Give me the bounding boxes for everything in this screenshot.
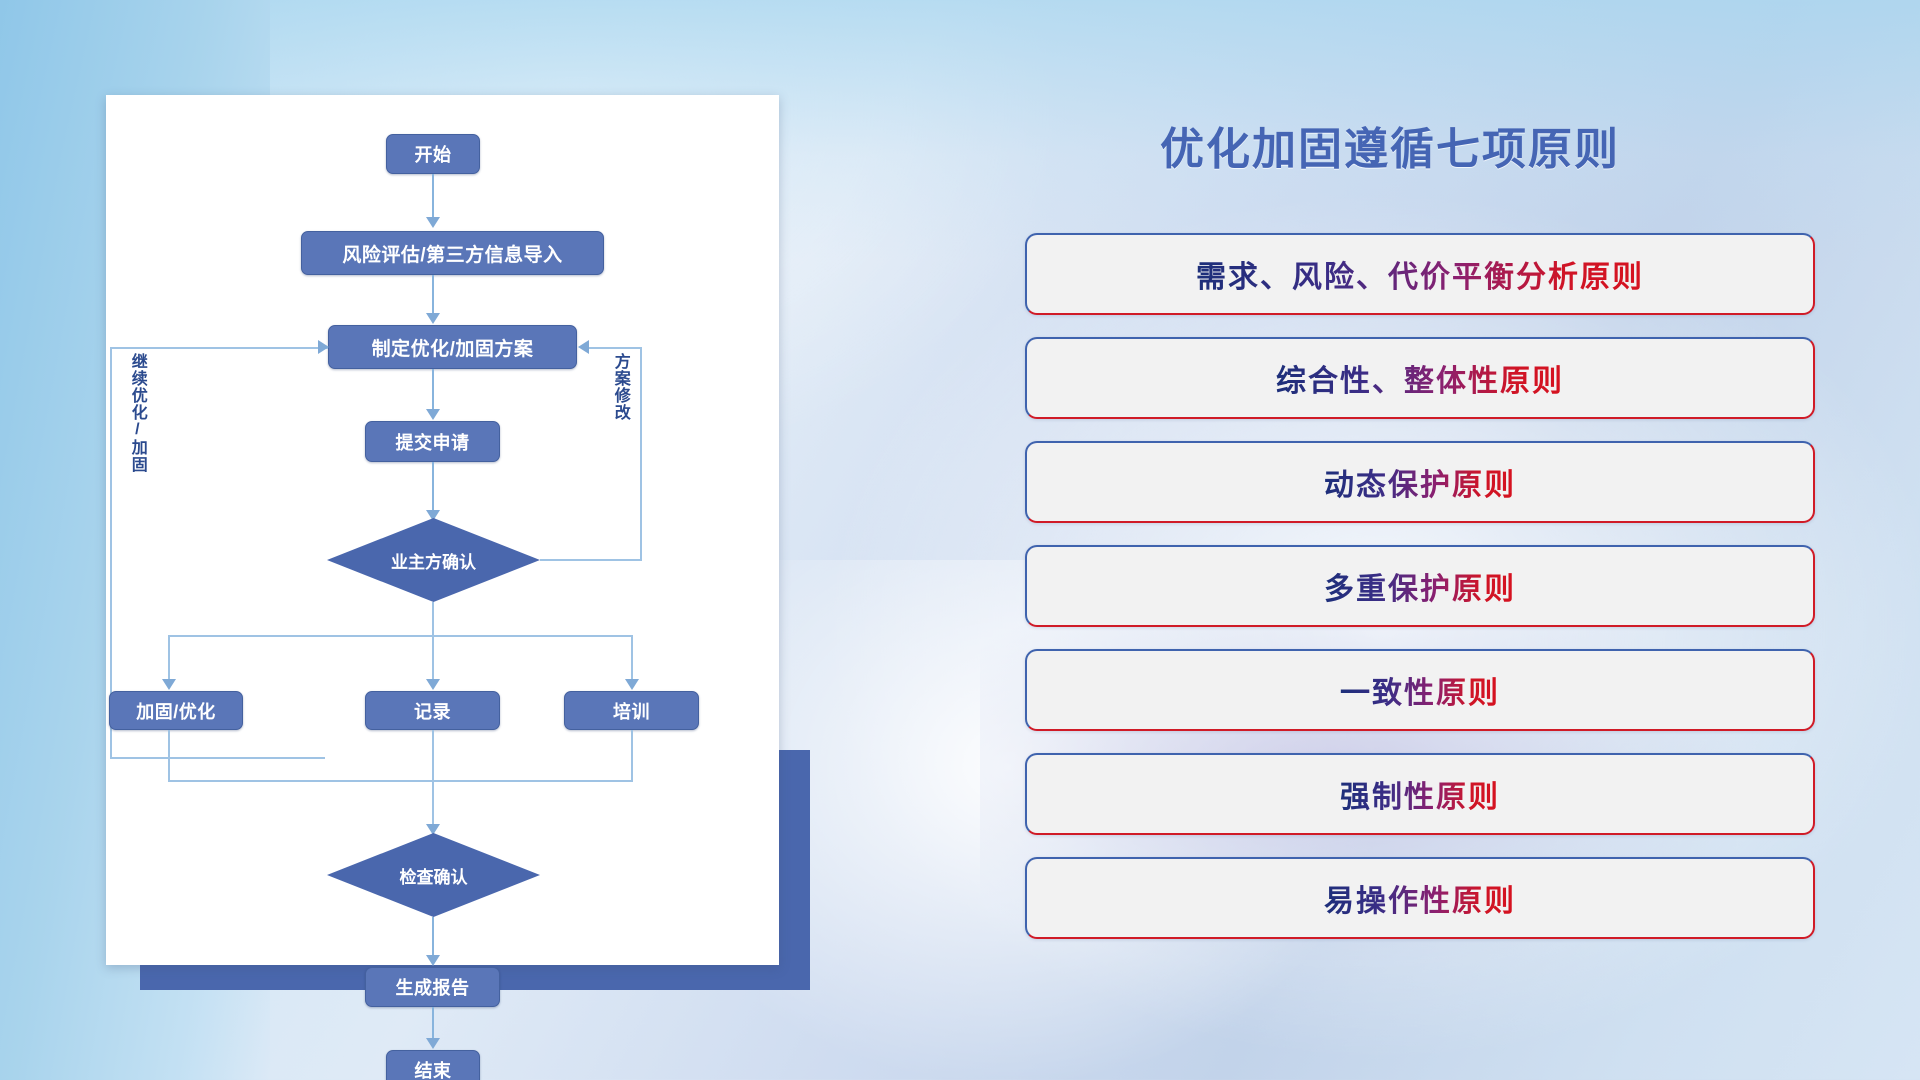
principle-label: 多重保护原则 <box>1324 564 1516 608</box>
edge-owner-down <box>432 602 434 684</box>
edge-train-down <box>631 730 633 782</box>
flow-node-risk-assessment-label: 风险评估/第三方信息导入 <box>342 240 562 267</box>
flow-node-record[interactable]: 记录 <box>365 691 500 730</box>
flow-node-report-label: 生成报告 <box>396 974 470 1000</box>
flow-node-start-label: 开始 <box>415 141 452 167</box>
flow-node-risk-assessment[interactable]: 风险评估/第三方信息导入 <box>301 231 604 275</box>
principle-label: 一致性原则 <box>1340 668 1500 712</box>
list-item[interactable]: 动态保护原则 <box>1025 441 1815 523</box>
edge-reinforce-down <box>168 730 170 782</box>
flow-node-train-label: 培训 <box>613 698 650 724</box>
arrow-plan-to-submit-icon <box>426 409 440 420</box>
list-item[interactable]: 多重保护原则 <box>1025 545 1815 627</box>
principles-list: 需求、风险、代价平衡分析原则 综合性、整体性原则 动态保护原则 多重保护原则 一… <box>1025 233 1815 961</box>
edge-branch-bar <box>168 635 633 637</box>
flow-decision-check-confirm-label: 检查确认 <box>400 863 468 888</box>
edge-owner-to-right-loop <box>540 559 642 561</box>
flow-node-report[interactable]: 生成报告 <box>365 967 500 1007</box>
flow-node-train[interactable]: 培训 <box>564 691 699 730</box>
list-item[interactable]: 需求、风险、代价平衡分析原则 <box>1025 233 1815 315</box>
edge-start-to-risk <box>432 174 434 221</box>
list-item[interactable]: 易操作性原则 <box>1025 857 1815 939</box>
edge-label-left-loop: 继续优化/加固 <box>128 353 145 473</box>
edge-right-loop-to-plan <box>588 347 642 349</box>
arrow-branch-left-icon <box>162 679 176 690</box>
principle-label: 动态保护原则 <box>1324 460 1516 504</box>
flow-node-submit-label: 提交申请 <box>396 429 470 455</box>
flow-decision-owner-confirm[interactable]: 业主方确认 <box>327 518 540 602</box>
principle-label: 强制性原则 <box>1340 772 1500 816</box>
list-item[interactable]: 一致性原则 <box>1025 649 1815 731</box>
flow-node-plan-label: 制定优化/加固方案 <box>372 334 534 361</box>
edge-left-loop-bottom <box>110 757 325 759</box>
flow-node-record-label: 记录 <box>414 698 451 724</box>
edge-submit-to-owner <box>432 462 434 514</box>
list-item[interactable]: 强制性原则 <box>1025 753 1815 835</box>
edge-label-right-loop: 方案修改 <box>611 353 628 421</box>
flowchart-card: 开始 风险评估/第三方信息导入 制定优化/加固方案 提交申请 业主方确认 <box>106 95 779 965</box>
edge-branch-right-down <box>631 635 633 683</box>
edge-merge-bar <box>168 780 633 782</box>
arrow-report-to-end-icon <box>426 1038 440 1049</box>
arrow-start-to-risk-icon <box>426 217 440 228</box>
flow-node-plan[interactable]: 制定优化/加固方案 <box>328 325 577 369</box>
edge-report-to-end <box>432 1007 434 1042</box>
arrow-branch-mid-icon <box>426 679 440 690</box>
arrow-right-loop-to-plan-icon <box>578 340 589 354</box>
edge-risk-to-plan <box>432 275 434 317</box>
list-item[interactable]: 综合性、整体性原则 <box>1025 337 1815 419</box>
arrow-check-to-report-icon <box>426 955 440 966</box>
flow-node-end-label: 结束 <box>415 1057 452 1080</box>
principle-label: 易操作性原则 <box>1324 876 1516 920</box>
flow-node-submit[interactable]: 提交申请 <box>365 421 500 462</box>
page-title: 优化加固遵循七项原则 <box>1010 113 1770 177</box>
flow-node-end[interactable]: 结束 <box>386 1050 480 1080</box>
flow-node-reinforce[interactable]: 加固/优化 <box>109 691 243 730</box>
flow-node-start[interactable]: 开始 <box>386 134 480 174</box>
edge-plan-to-submit <box>432 369 434 413</box>
arrow-risk-to-plan-icon <box>426 313 440 324</box>
edge-branch-left-down <box>168 635 170 683</box>
principle-label: 综合性、整体性原则 <box>1276 356 1564 400</box>
flow-decision-owner-confirm-label: 业主方确认 <box>391 548 476 573</box>
flow-node-reinforce-label: 加固/优化 <box>136 698 216 724</box>
edge-record-down <box>432 730 434 828</box>
arrow-branch-right-icon <box>625 679 639 690</box>
flowchart: 开始 风险评估/第三方信息导入 制定优化/加固方案 提交申请 业主方确认 <box>106 95 779 965</box>
edge-check-to-report <box>432 917 434 959</box>
edge-left-loop-to-plan <box>110 347 328 349</box>
flow-decision-check-confirm[interactable]: 检查确认 <box>327 833 540 917</box>
edge-right-loop-vertical <box>640 347 642 560</box>
arrow-left-loop-to-plan-icon <box>318 340 329 354</box>
principle-label: 需求、风险、代价平衡分析原则 <box>1196 252 1644 296</box>
